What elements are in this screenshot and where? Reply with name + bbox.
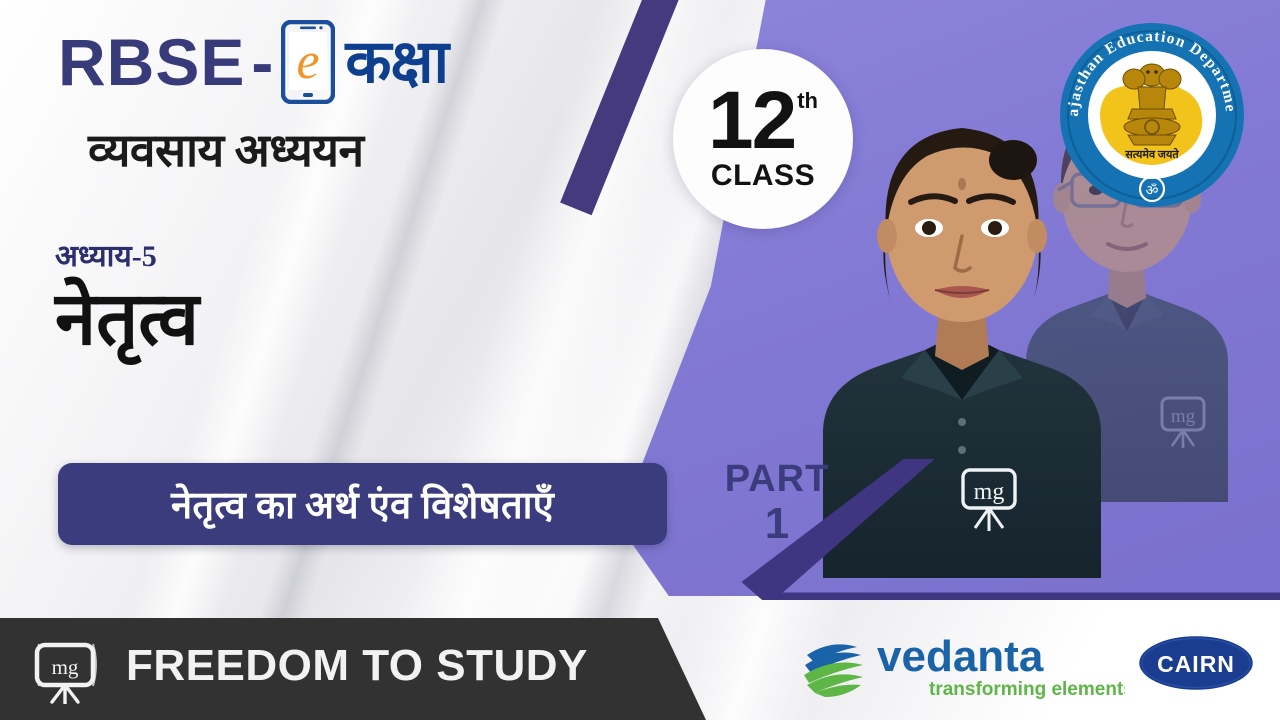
thumbnail-canvas: mg [0, 0, 1280, 720]
seal-motto: सत्यमेव जयते [1124, 147, 1179, 161]
brand-header: RBSE - e कक्षा [58, 20, 448, 104]
svg-text:ॐ: ॐ [1146, 183, 1159, 199]
vedanta-wordmark: vedanta [877, 632, 1044, 681]
footer-tagline: FREEDOM TO STUDY [126, 641, 588, 691]
part-label: PART [712, 458, 842, 501]
mg-logo-text: mg [52, 655, 79, 679]
vedanta-tagline: transforming elements [929, 679, 1125, 700]
topic-banner: नेतृत्व का अर्थ एंव विशेषताएँ [58, 463, 667, 545]
vedanta-globe-icon [804, 644, 863, 697]
chapter-title: नेतृत्व [55, 282, 199, 360]
rajasthan-education-department-seal: Rajasthan Education Department सत्यमेव ज… [1054, 17, 1250, 213]
svg-text:mg: mg [1171, 406, 1196, 427]
sponsor-logo-cairn: CAIRN [1135, 632, 1257, 694]
diagonal-accent-stripe [560, 0, 681, 215]
topic-banner-text: नेतृत्व का अर्थ एंव विशेषताएँ [171, 478, 554, 530]
e-letter: e [297, 33, 320, 90]
class-ordinal-suffix: th [797, 91, 818, 110]
part-number: 1 [712, 501, 842, 547]
mg-whiteboard-icon: mg [30, 638, 102, 704]
class-badge: 12 th CLASS [673, 49, 853, 229]
class-number: 12 [708, 85, 795, 157]
svg-text:mg: mg [974, 479, 1005, 505]
smartphone-e-icon: e [281, 20, 335, 104]
chapter-label: अध्याय-5 [55, 234, 157, 275]
kaksha-wordmark: कक्षा [345, 32, 448, 92]
board-name: RBSE [58, 29, 245, 95]
part-indicator: PART 1 [712, 458, 842, 547]
cairn-wordmark: CAIRN [1157, 651, 1235, 677]
class-word-label: CLASS [711, 159, 815, 193]
subject-title: व्यवसाय अध्ययन [88, 118, 364, 180]
background-sheen-streak [146, 0, 561, 720]
class-number-row: 12 th [708, 85, 818, 157]
brand-separator: - [251, 24, 273, 100]
sponsor-logo-vedanta: vedanta transforming elements [795, 625, 1125, 703]
